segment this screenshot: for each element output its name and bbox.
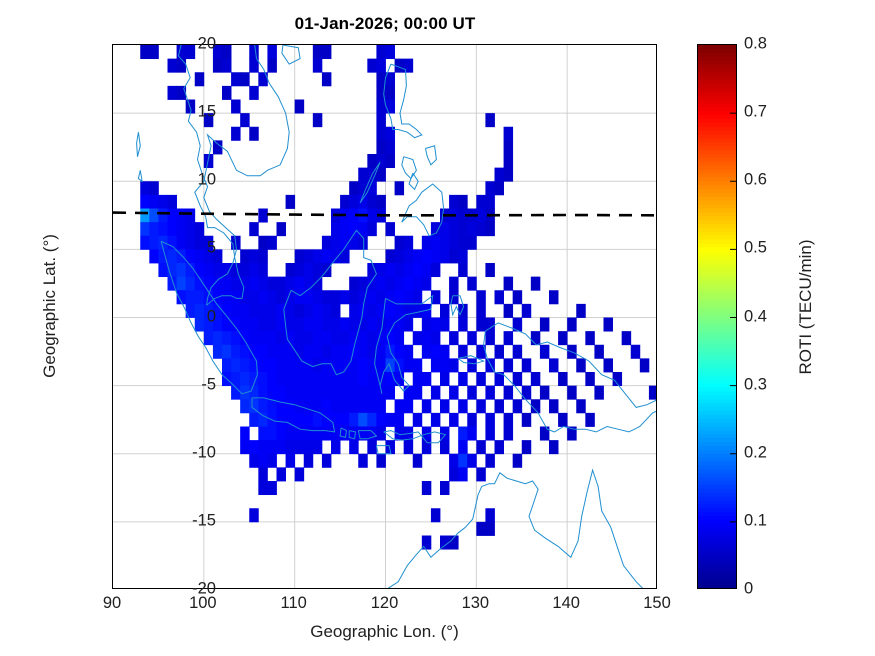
- roti-cell: [404, 345, 413, 359]
- roti-cell: [413, 290, 422, 304]
- roti-cell: [485, 222, 494, 236]
- roti-cell: [504, 277, 513, 291]
- roti-cell: [340, 399, 349, 413]
- roti-cell: [531, 372, 540, 386]
- roti-cell: [340, 290, 349, 304]
- y-axis-tick-15: 15: [198, 103, 216, 122]
- roti-cell: [431, 263, 440, 277]
- roti-cell: [485, 454, 494, 468]
- roti-cell: [413, 372, 422, 386]
- coastline-segment: [426, 146, 437, 165]
- roti-cell: [358, 277, 367, 291]
- roti-cell: [476, 304, 485, 318]
- roti-cell: [413, 358, 422, 372]
- roti-cell: [158, 209, 167, 223]
- roti-cell: [340, 222, 349, 236]
- roti-cell: [604, 318, 613, 332]
- roti-cell: [395, 181, 404, 195]
- roti-cell: [585, 372, 594, 386]
- roti-cell: [522, 358, 531, 372]
- roti-cell: [322, 236, 331, 250]
- roti-cell: [386, 331, 395, 345]
- roti-cell: [267, 45, 276, 59]
- roti-cell: [386, 222, 395, 236]
- roti-cell: [358, 413, 367, 427]
- roti-cell: [231, 277, 240, 291]
- roti-cell: [331, 304, 340, 318]
- roti-cell: [640, 358, 649, 372]
- roti-cell: [449, 454, 458, 468]
- roti-cell: [422, 481, 431, 495]
- roti-cell: [558, 372, 567, 386]
- roti-cell: [267, 318, 276, 332]
- roti-cell: [222, 86, 231, 100]
- roti-cell: [495, 399, 504, 413]
- roti-cell: [195, 290, 204, 304]
- roti-cell: [367, 154, 376, 168]
- roti-cell: [304, 372, 313, 386]
- roti-cell: [549, 440, 558, 454]
- roti-cell: [504, 386, 513, 400]
- roti-cell: [240, 290, 249, 304]
- roti-cell: [458, 427, 467, 441]
- roti-cell: [349, 318, 358, 332]
- roti-cell: [286, 195, 295, 209]
- roti-cell: [504, 427, 513, 441]
- roti-cell: [567, 386, 576, 400]
- roti-cell: [386, 100, 395, 114]
- roti-cell: [376, 399, 385, 413]
- roti-cell: [304, 277, 313, 291]
- roti-cell: [540, 345, 549, 359]
- roti-cell: [449, 222, 458, 236]
- roti-cell: [267, 372, 276, 386]
- roti-cell: [376, 113, 385, 127]
- roti-cell: [286, 304, 295, 318]
- colorbar-gradient: [698, 45, 737, 589]
- roti-cell: [286, 413, 295, 427]
- x-axis-tick-130: 130: [462, 594, 490, 613]
- roti-cell: [213, 345, 222, 359]
- roti-cell: [349, 195, 358, 209]
- roti-cell: [322, 454, 331, 468]
- colorbar: [697, 44, 737, 589]
- roti-cell: [322, 45, 331, 59]
- roti-cell: [331, 318, 340, 332]
- roti-cell: [340, 318, 349, 332]
- roti-cell: [158, 222, 167, 236]
- roti-cell: [358, 358, 367, 372]
- y-axis-label: Geographic Lat. (°): [40, 106, 60, 506]
- roti-cell: [240, 358, 249, 372]
- roti-cell: [395, 331, 404, 345]
- roti-cell: [240, 331, 249, 345]
- roti-cell: [213, 263, 222, 277]
- roti-cell: [277, 413, 286, 427]
- roti-cell: [331, 427, 340, 441]
- roti-cell: [422, 399, 431, 413]
- roti-cell: [349, 413, 358, 427]
- roti-cell: [258, 304, 267, 318]
- coastline-segment: [138, 170, 142, 181]
- roti-cell: [449, 413, 458, 427]
- roti-cell: [177, 45, 186, 59]
- roti-cell: [258, 209, 267, 223]
- roti-cell: [558, 413, 567, 427]
- roti-cell: [349, 440, 358, 454]
- roti-cell: [322, 427, 331, 441]
- roti-cell: [313, 249, 322, 263]
- roti-cell: [386, 358, 395, 372]
- roti-cell: [340, 345, 349, 359]
- roti-cell: [249, 59, 258, 73]
- x-axis-tick-110: 110: [281, 594, 307, 613]
- roti-cell: [495, 168, 504, 182]
- roti-cell: [476, 467, 485, 481]
- roti-cell: [258, 72, 267, 86]
- roti-cell: [549, 290, 558, 304]
- roti-cell: [249, 86, 258, 100]
- x-axis-tick-140: 140: [552, 594, 580, 613]
- colorbar-label: ROTI (TECU/min): [796, 107, 816, 507]
- roti-cell: [240, 113, 249, 127]
- roti-cell: [331, 413, 340, 427]
- roti-cell: [476, 290, 485, 304]
- roti-cell: [304, 399, 313, 413]
- roti-cell: [140, 222, 149, 236]
- roti-cell: [422, 372, 431, 386]
- roti-cell: [267, 440, 276, 454]
- roti-cell: [367, 413, 376, 427]
- roti-cell: [222, 277, 231, 291]
- roti-cell: [476, 522, 485, 536]
- roti-cell: [277, 358, 286, 372]
- roti-cell: [431, 358, 440, 372]
- roti-cell: [177, 263, 186, 277]
- roti-cell: [485, 263, 494, 277]
- roti-cell: [149, 236, 158, 250]
- roti-cell: [540, 386, 549, 400]
- roti-cell: [594, 386, 603, 400]
- roti-cell: [386, 386, 395, 400]
- roti-cell: [649, 386, 657, 400]
- roti-cell: [340, 413, 349, 427]
- roti-cell: [485, 113, 494, 127]
- roti-cell: [186, 209, 195, 223]
- roti-cell: [485, 195, 494, 209]
- roti-cell: [458, 195, 467, 209]
- roti-cell: [313, 45, 322, 59]
- roti-cell: [504, 140, 513, 154]
- map-plot-area: [112, 44, 657, 589]
- roti-cell: [413, 263, 422, 277]
- y-axis-tick-10: 10: [198, 171, 216, 190]
- roti-cell: [395, 263, 404, 277]
- y-axis-tick-5: 5: [207, 239, 216, 258]
- roti-cell: [222, 290, 231, 304]
- roti-cell: [376, 140, 385, 154]
- roti-cell: [340, 331, 349, 345]
- roti-cell: [295, 386, 304, 400]
- roti-cell: [395, 277, 404, 291]
- roti-cell: [440, 304, 449, 318]
- roti-cell: [331, 358, 340, 372]
- roti-cell: [622, 331, 631, 345]
- roti-cell: [295, 372, 304, 386]
- roti-cell: [358, 345, 367, 359]
- roti-cell: [549, 358, 558, 372]
- roti-cell: [449, 331, 458, 345]
- roti-cell: [386, 140, 395, 154]
- roti-cell: [140, 195, 149, 209]
- roti-cell: [277, 372, 286, 386]
- roti-cell: [258, 331, 267, 345]
- roti-cell: [504, 331, 513, 345]
- roti-cell: [258, 440, 267, 454]
- y-axis-tick-20: 20: [198, 35, 216, 54]
- roti-cell: [395, 427, 404, 441]
- roti-cell: [149, 209, 158, 223]
- roti-cell: [495, 290, 504, 304]
- roti-cell: [585, 331, 594, 345]
- roti-cell: [313, 345, 322, 359]
- roti-cell: [258, 399, 267, 413]
- roti-cell: [186, 277, 195, 291]
- roti-cell: [349, 399, 358, 413]
- x-axis-label: Geographic Lon. (°): [112, 622, 657, 642]
- roti-cell: [386, 304, 395, 318]
- roti-cell: [177, 277, 186, 291]
- roti-cell: [158, 263, 167, 277]
- roti-cell: [422, 249, 431, 263]
- roti-cell: [258, 372, 267, 386]
- roti-cell: [258, 277, 267, 291]
- roti-cell: [431, 386, 440, 400]
- roti-cell: [177, 236, 186, 250]
- roti-cell: [549, 399, 558, 413]
- roti-cell: [286, 358, 295, 372]
- roti-cell: [322, 72, 331, 86]
- roti-cell: [485, 508, 494, 522]
- figure-title: 01-Jan-2026; 00:00 UT: [0, 14, 770, 34]
- roti-cell: [349, 290, 358, 304]
- roti-cell: [149, 249, 158, 263]
- roti-cell: [413, 386, 422, 400]
- roti-cell: [395, 345, 404, 359]
- roti-cell: [376, 454, 385, 468]
- roti-cell: [522, 413, 531, 427]
- roti-cell: [340, 386, 349, 400]
- roti-cell: [558, 331, 567, 345]
- roti-cell: [485, 181, 494, 195]
- colorbar-tick-0p2: 0.2: [744, 443, 767, 462]
- roti-cell: [431, 508, 440, 522]
- roti-cell: [404, 304, 413, 318]
- roti-cell: [258, 318, 267, 332]
- roti-cell: [422, 345, 431, 359]
- roti-cell: [331, 345, 340, 359]
- roti-cell: [358, 168, 367, 182]
- roti-cell: [258, 427, 267, 441]
- coastline-segment: [282, 45, 300, 64]
- colorbar-tick-0p6: 0.6: [744, 171, 767, 190]
- roti-cell: [540, 427, 549, 441]
- roti-cell: [367, 290, 376, 304]
- roti-cell: [195, 72, 204, 86]
- roti-cell: [386, 45, 395, 59]
- roti-cell: [186, 236, 195, 250]
- roti-cell: [313, 440, 322, 454]
- roti-cell: [431, 318, 440, 332]
- roti-cell: [431, 331, 440, 345]
- roti-cell: [504, 154, 513, 168]
- roti-cell: [304, 318, 313, 332]
- roti-cell: [485, 522, 494, 536]
- roti-cell: [358, 454, 367, 468]
- roti-cell: [349, 386, 358, 400]
- roti-cell: [485, 427, 494, 441]
- roti-cell: [322, 358, 331, 372]
- roti-cell: [376, 127, 385, 141]
- roti-cell: [277, 386, 286, 400]
- roti-cell: [440, 372, 449, 386]
- roti-cell: [458, 372, 467, 386]
- roti-cell: [358, 386, 367, 400]
- y-axis-tick-neg15: -15: [192, 511, 216, 530]
- roti-cell: [422, 318, 431, 332]
- roti-cell: [458, 249, 467, 263]
- roti-cell: [231, 345, 240, 359]
- roti-cell: [213, 331, 222, 345]
- roti-cell: [277, 440, 286, 454]
- roti-cell: [504, 304, 513, 318]
- roti-cell: [367, 318, 376, 332]
- colorbar-tick-0p3: 0.3: [744, 375, 767, 394]
- roti-cell: [440, 222, 449, 236]
- roti-cell: [168, 249, 177, 263]
- roti-cell: [240, 427, 249, 441]
- roti-cell: [504, 358, 513, 372]
- roti-cell: [240, 372, 249, 386]
- roti-cell: [367, 304, 376, 318]
- roti-cell: [376, 263, 385, 277]
- roti-cell: [367, 59, 376, 73]
- roti-cell: [295, 413, 304, 427]
- roti-cell: [376, 290, 385, 304]
- roti-cell: [186, 290, 195, 304]
- roti-cell: [158, 195, 167, 209]
- roti-cell: [177, 209, 186, 223]
- roti-cell: [267, 427, 276, 441]
- roti-cell: [395, 290, 404, 304]
- roti-cell: [322, 290, 331, 304]
- roti-cell: [304, 304, 313, 318]
- colorbar-tick-0: 0: [744, 580, 753, 599]
- roti-cell: [367, 386, 376, 400]
- roti-cell: [404, 318, 413, 332]
- roti-cell: [168, 222, 177, 236]
- roti-cell: [258, 413, 267, 427]
- roti-cell: [186, 304, 195, 318]
- roti-cell: [322, 331, 331, 345]
- roti-cell: [322, 345, 331, 359]
- roti-cell: [349, 372, 358, 386]
- roti-cell: [277, 345, 286, 359]
- roti-cell: [267, 277, 276, 291]
- roti-cell: [222, 45, 231, 59]
- roti-cell: [277, 277, 286, 291]
- roti-cell: [386, 127, 395, 141]
- roti-cell: [376, 277, 385, 291]
- roti-cell: [286, 263, 295, 277]
- roti-cell: [485, 318, 494, 332]
- roti-cell: [249, 45, 258, 59]
- roti-cell: [258, 345, 267, 359]
- roti-cell: [431, 249, 440, 263]
- roti-cell: [467, 358, 476, 372]
- roti-cell: [322, 386, 331, 400]
- roti-cell: [267, 399, 276, 413]
- roti-cell: [286, 399, 295, 413]
- roti-cell: [376, 59, 385, 73]
- roti-cell: [267, 290, 276, 304]
- roti-cell: [240, 304, 249, 318]
- y-axis-tick-neg10: -10: [192, 443, 216, 462]
- roti-cell: [295, 263, 304, 277]
- roti-cell: [367, 222, 376, 236]
- roti-cell: [449, 467, 458, 481]
- roti-cell: [331, 399, 340, 413]
- roti-cell: [213, 59, 222, 73]
- roti-figure: 01-Jan-2026; 00:00 UT Geographic Lat. (°…: [0, 0, 875, 656]
- roti-cell: [140, 209, 149, 223]
- roti-cell: [349, 277, 358, 291]
- roti-cell: [231, 127, 240, 141]
- roti-cell: [504, 413, 513, 427]
- roti-cell: [304, 331, 313, 345]
- roti-cell: [249, 263, 258, 277]
- roti-cell: [458, 236, 467, 250]
- roti-cell: [349, 304, 358, 318]
- roti-cell: [576, 358, 585, 372]
- roti-cell: [576, 304, 585, 318]
- roti-cell: [286, 427, 295, 441]
- roti-cell: [440, 345, 449, 359]
- roti-cell: [258, 481, 267, 495]
- roti-cell: [540, 318, 549, 332]
- roti-cell: [422, 236, 431, 250]
- roti-cell: [485, 413, 494, 427]
- roti-cell: [522, 304, 531, 318]
- roti-cell: [349, 358, 358, 372]
- roti-cell: [386, 372, 395, 386]
- roti-cell: [168, 195, 177, 209]
- roti-cell: [367, 195, 376, 209]
- roti-cell: [413, 277, 422, 291]
- colorbar-tick-0p5: 0.5: [744, 239, 767, 258]
- roti-cell: [513, 399, 522, 413]
- roti-cell: [304, 345, 313, 359]
- roti-cell: [386, 154, 395, 168]
- roti-cell: [240, 263, 249, 277]
- roti-cell: [249, 508, 258, 522]
- roti-cell: [404, 277, 413, 291]
- roti-cell: [331, 386, 340, 400]
- roti-cell: [286, 454, 295, 468]
- roti-cell: [267, 454, 276, 468]
- roti-cell: [195, 263, 204, 277]
- roti-cell: [331, 222, 340, 236]
